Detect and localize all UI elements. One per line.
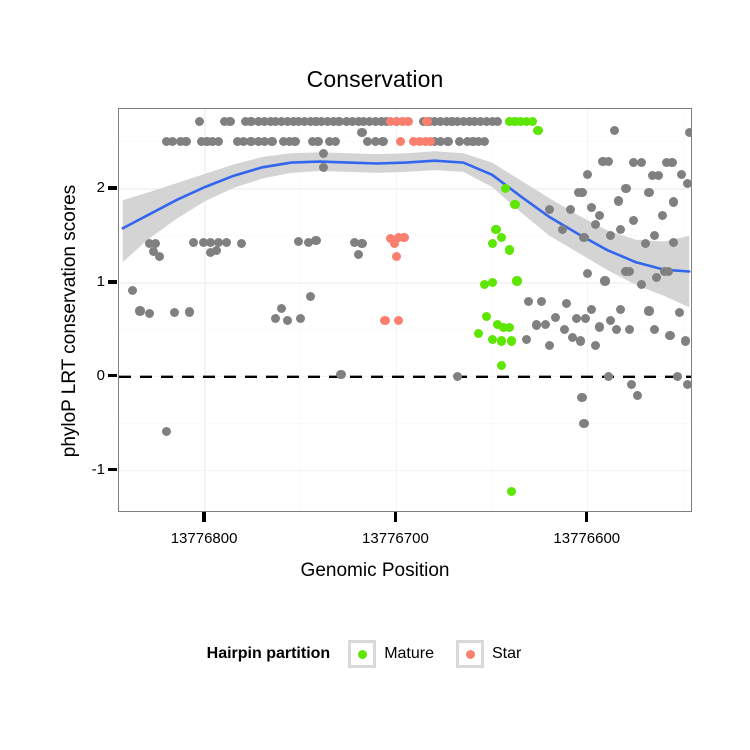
data-point-other — [641, 239, 650, 248]
data-point-star — [380, 316, 389, 325]
plot-area — [119, 109, 691, 511]
data-point-other — [587, 305, 596, 314]
data-point-mature — [512, 276, 521, 285]
data-point-other — [595, 322, 604, 331]
data-point-other — [637, 158, 646, 167]
y-tick — [108, 468, 117, 471]
data-point-star — [392, 252, 401, 261]
x-tick-label: 13776800 — [134, 530, 274, 547]
data-point-other — [576, 336, 585, 345]
data-point-other — [577, 393, 586, 402]
y-tick-label: 1 — [65, 273, 105, 290]
data-point-other — [644, 306, 653, 315]
fit-and-band-layer — [119, 109, 692, 512]
plot-panel — [118, 108, 692, 512]
legend-label-mature: Mature — [384, 645, 434, 663]
data-point-mature — [497, 336, 506, 345]
data-point-other — [683, 380, 692, 389]
data-point-star — [394, 316, 403, 325]
data-point-other — [181, 137, 190, 146]
data-point-other — [237, 239, 246, 248]
data-point-other — [681, 336, 690, 345]
legend-key-mature[interactable] — [348, 640, 376, 668]
x-tick — [202, 512, 205, 522]
x-tick-label: 13776600 — [517, 530, 657, 547]
data-point-other — [577, 188, 586, 197]
legend-dot-icon — [358, 650, 367, 659]
page-title: Conservation — [0, 66, 750, 93]
data-point-other — [658, 211, 667, 220]
data-point-other — [311, 236, 320, 245]
data-point-other — [667, 158, 676, 167]
data-point-mature — [528, 117, 537, 126]
data-point-other — [616, 225, 625, 234]
data-point-other — [664, 267, 673, 276]
data-point-mature — [510, 200, 519, 209]
data-point-other — [541, 320, 550, 329]
data-point-mature — [488, 239, 497, 248]
data-point-other — [621, 184, 630, 193]
data-point-other — [591, 220, 600, 229]
data-point-star — [403, 117, 412, 126]
data-point-star — [390, 239, 399, 248]
data-point-other — [652, 273, 661, 282]
data-point-star — [422, 117, 431, 126]
data-point-other — [290, 137, 299, 146]
data-point-other — [354, 250, 363, 259]
data-point-other — [665, 331, 674, 340]
data-point-other — [222, 238, 231, 247]
data-point-other — [357, 128, 366, 137]
data-point-other — [283, 316, 292, 325]
data-point-mature — [505, 245, 514, 254]
data-point-other — [195, 117, 204, 126]
data-point-other — [579, 419, 588, 428]
y-tick — [108, 280, 117, 283]
data-point-mature — [533, 126, 542, 135]
y-tick-label: -1 — [65, 461, 105, 478]
legend-label-star: Star — [492, 645, 521, 663]
data-point-other — [319, 149, 328, 158]
data-point-mature — [488, 335, 497, 344]
legend-entries: MatureStar — [348, 640, 543, 668]
data-point-other — [522, 335, 531, 344]
y-tick-label: 2 — [65, 179, 105, 196]
data-point-other — [616, 305, 625, 314]
x-tick — [394, 512, 397, 522]
data-point-other — [185, 307, 194, 316]
data-point-other — [572, 314, 581, 323]
chart-root: Conservation phyloP LRT conservation sco… — [0, 0, 750, 750]
data-point-other — [683, 179, 692, 188]
y-tick-label: 0 — [65, 367, 105, 384]
data-point-other — [685, 128, 692, 137]
data-point-other — [313, 137, 322, 146]
data-point-other — [336, 370, 345, 379]
data-point-other — [532, 320, 541, 329]
legend-dot-icon — [466, 650, 475, 659]
data-point-other — [669, 197, 678, 206]
legend: Hairpin partition MatureStar — [0, 640, 750, 668]
data-point-other — [579, 233, 588, 242]
data-point-mature — [507, 336, 516, 345]
data-point-other — [225, 117, 234, 126]
data-point-other — [595, 211, 604, 220]
x-tick — [585, 512, 588, 522]
legend-key-star[interactable] — [456, 640, 484, 668]
data-point-other — [551, 313, 560, 322]
data-point-other — [128, 286, 137, 295]
data-point-mature — [507, 487, 516, 496]
data-point-other — [155, 252, 164, 261]
data-point-other — [614, 196, 623, 205]
data-point-star — [399, 233, 408, 242]
y-tick — [108, 374, 117, 377]
data-point-other — [357, 239, 366, 248]
x-tick-label: 13776700 — [325, 530, 465, 547]
data-point-other — [135, 306, 144, 315]
data-point-other — [600, 276, 609, 285]
x-axis-title: Genomic Position — [0, 560, 750, 582]
y-tick — [108, 186, 117, 189]
data-point-other — [644, 188, 653, 197]
y-axis-title: phyloP LRT conservation scores — [59, 61, 81, 581]
data-point-other — [277, 304, 286, 313]
legend-title: Hairpin partition — [207, 645, 331, 663]
